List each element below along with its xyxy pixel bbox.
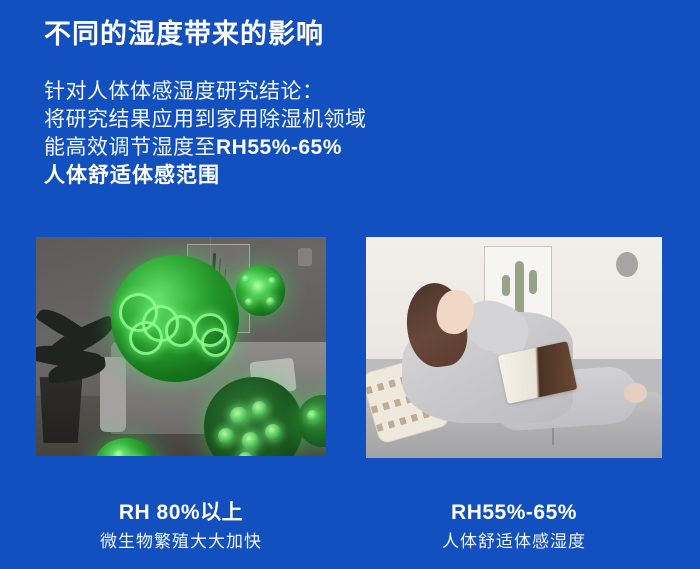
wall-switch-icon — [298, 248, 312, 266]
bacteria-nub — [238, 452, 254, 456]
caption-left: RH 80%以上 微生物繁殖大大加快 — [36, 500, 326, 554]
bacteria-nub — [245, 298, 253, 306]
bacteria-nub — [230, 407, 248, 425]
bacteria-sphere-large — [111, 255, 239, 382]
caption-right-subtitle: 人体舒适体感湿度 — [366, 530, 662, 554]
body-line-2: 将研究结果应用到家用除湿机领域 — [44, 106, 367, 134]
plant-pot — [36, 377, 82, 443]
body-line-4: 人体舒适体感范围 — [44, 162, 367, 190]
bacteria-nub — [251, 280, 268, 297]
bacteria-nub — [265, 424, 281, 440]
bacteria-nub — [113, 450, 127, 456]
body-line-3-highlight: RH55%-65% — [216, 136, 342, 159]
humidity-comparison-poster: 不同的湿度带来的影响 针对人体体感湿度研究结论： 将研究结果应用到家用除湿机领域… — [0, 0, 700, 569]
caption-left-title: RH 80%以上 — [36, 500, 326, 526]
caption-right: RH55%-65% 人体舒适体感湿度 — [366, 500, 662, 554]
bacteria-ring — [201, 328, 230, 357]
bacteria-ring — [165, 315, 197, 346]
bacteria-nub — [242, 432, 260, 450]
bacteria-nub — [266, 297, 275, 306]
caption-right-title: RH55%-65% — [366, 500, 662, 526]
cactus-icon — [515, 261, 524, 316]
bacteria-nub — [242, 275, 250, 283]
bacteria-nub — [307, 410, 317, 421]
body-line-3: 能高效调节湿度至RH55%-65% — [44, 134, 367, 162]
comfort-room-scene — [366, 237, 662, 458]
image-panel-left — [36, 237, 326, 456]
image-panel-right — [366, 237, 662, 458]
body-copy-block: 针对人体体感湿度研究结论： 将研究结果应用到家用除湿机领域 能高效调节湿度至RH… — [44, 78, 367, 190]
body-line-3-prefix: 能高效调节湿度至 — [44, 136, 216, 159]
woman-foot — [624, 383, 648, 403]
page-title: 不同的湿度带来的影响 — [44, 18, 324, 52]
bacteria-sphere-small-top — [236, 265, 285, 315]
bacteria-nub — [218, 428, 234, 444]
bacteria-nub — [252, 401, 268, 417]
body-line-1: 针对人体体感湿度研究结论： — [44, 78, 367, 106]
bacteria-ring — [129, 321, 163, 355]
dim-room-scene — [36, 237, 326, 456]
caption-left-subtitle: 微生物繁殖大大加快 — [36, 530, 326, 554]
bacteria-nub — [268, 277, 276, 285]
